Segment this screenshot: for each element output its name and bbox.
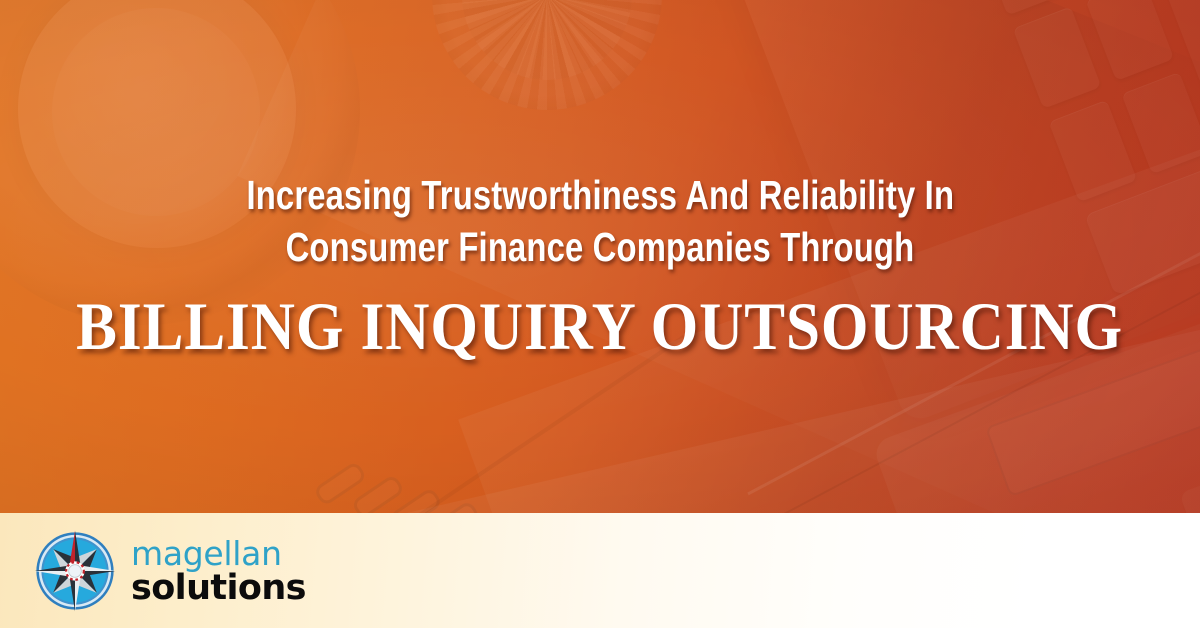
- hero-section: MC MR M+ 9 Increasing Trustworthiness An…: [0, 0, 1200, 513]
- compass-rose-icon: [33, 529, 117, 613]
- logo-wordmark: magellan solutions: [131, 537, 306, 606]
- hero-subhead-line-2: Consumer Finance Companies Through: [286, 220, 915, 274]
- footer-bar: magellan solutions: [0, 513, 1200, 628]
- banner-image: MC MR M+ 9 Increasing Trustworthiness An…: [0, 0, 1200, 628]
- hero-subhead-line-1: Increasing Trustworthiness And Reliabili…: [246, 168, 954, 222]
- logo-brand-primary: magellan: [131, 537, 306, 570]
- magellan-solutions-logo[interactable]: magellan solutions: [33, 529, 306, 613]
- hero-text-block: Increasing Trustworthiness And Reliabili…: [0, 0, 1200, 513]
- logo-brand-secondary: solutions: [131, 571, 306, 606]
- hero-main-title: BILLING INQUIRY OUTSOURCING: [77, 290, 1124, 362]
